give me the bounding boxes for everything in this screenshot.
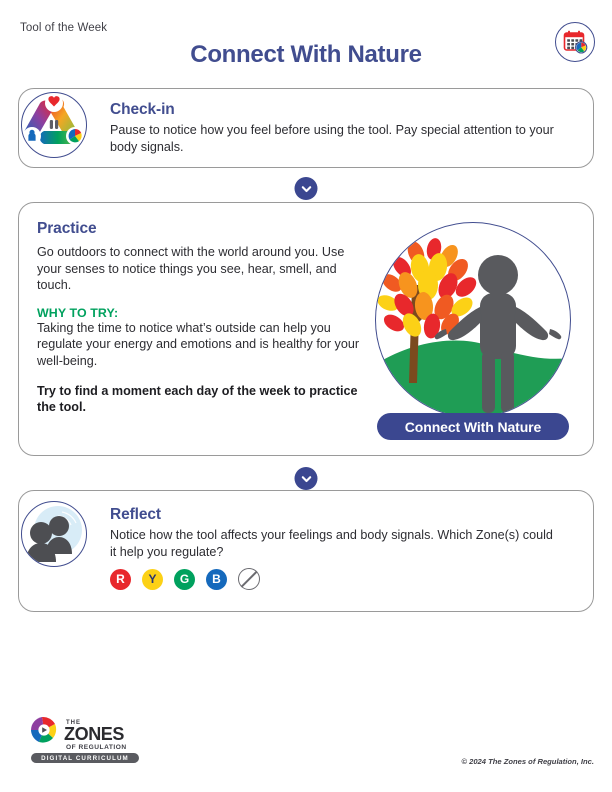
tool-name-pill: Connect With Nature [377, 413, 569, 440]
svg-text:DIGITAL CURRICULUM: DIGITAL CURRICULUM [41, 755, 129, 762]
reflect-text-block: Reflect Notice how the tool affects your… [110, 506, 560, 590]
checkin-text-block: Check-in Pause to notice how you feel be… [110, 101, 570, 155]
zones-triangle-icon [21, 92, 87, 158]
yellow-zone[interactable]: Y [142, 569, 163, 590]
reflect-heading: Reflect [110, 506, 560, 524]
why-to-try-label: WHY TO TRY: [37, 306, 362, 320]
kicker-label: Tool of the Week [20, 22, 107, 34]
two-people-icon [21, 501, 87, 567]
chevron-down-icon [295, 467, 318, 490]
person-with-tree-icon [375, 222, 571, 418]
green-zone[interactable]: G [174, 569, 195, 590]
reflect-body-text: Notice how the tool affects your feeling… [110, 527, 560, 560]
zones-logo: THE ZONES OF REGULATION DIGITAL CURRICUL… [26, 712, 144, 769]
blue-zone[interactable]: B [206, 569, 227, 590]
calendar-icon [555, 22, 595, 62]
copyright-text: © 2024 The Zones of Regulation, Inc. [461, 757, 594, 766]
red-zone[interactable]: R [110, 569, 131, 590]
practice-text-block: Practice Go outdoors to connect with the… [37, 220, 362, 416]
page-title: Connect With Nature [0, 41, 612, 69]
svg-text:OF REGULATION: OF REGULATION [66, 744, 127, 751]
worksheet-page: Tool of the Week Connect With Nature [0, 0, 612, 792]
practice-illustration [375, 222, 571, 418]
why-to-try-text: Taking the time to notice what’s outside… [37, 320, 362, 370]
chevron-down-icon [295, 177, 318, 200]
practice-heading: Practice [37, 220, 362, 238]
practice-body-text: Go outdoors to connect with the world ar… [37, 244, 362, 294]
no-zone[interactable] [238, 568, 260, 590]
checkin-heading: Check-in [110, 101, 570, 119]
zone-selector-row: RYGB [110, 568, 560, 590]
try-instruction-text: Try to find a moment each day of the wee… [37, 383, 362, 416]
svg-text:ZONES: ZONES [64, 724, 124, 744]
checkin-body-text: Pause to notice how you feel before usin… [110, 122, 570, 155]
page-header: Tool of the Week Connect With Nature [0, 0, 612, 82]
